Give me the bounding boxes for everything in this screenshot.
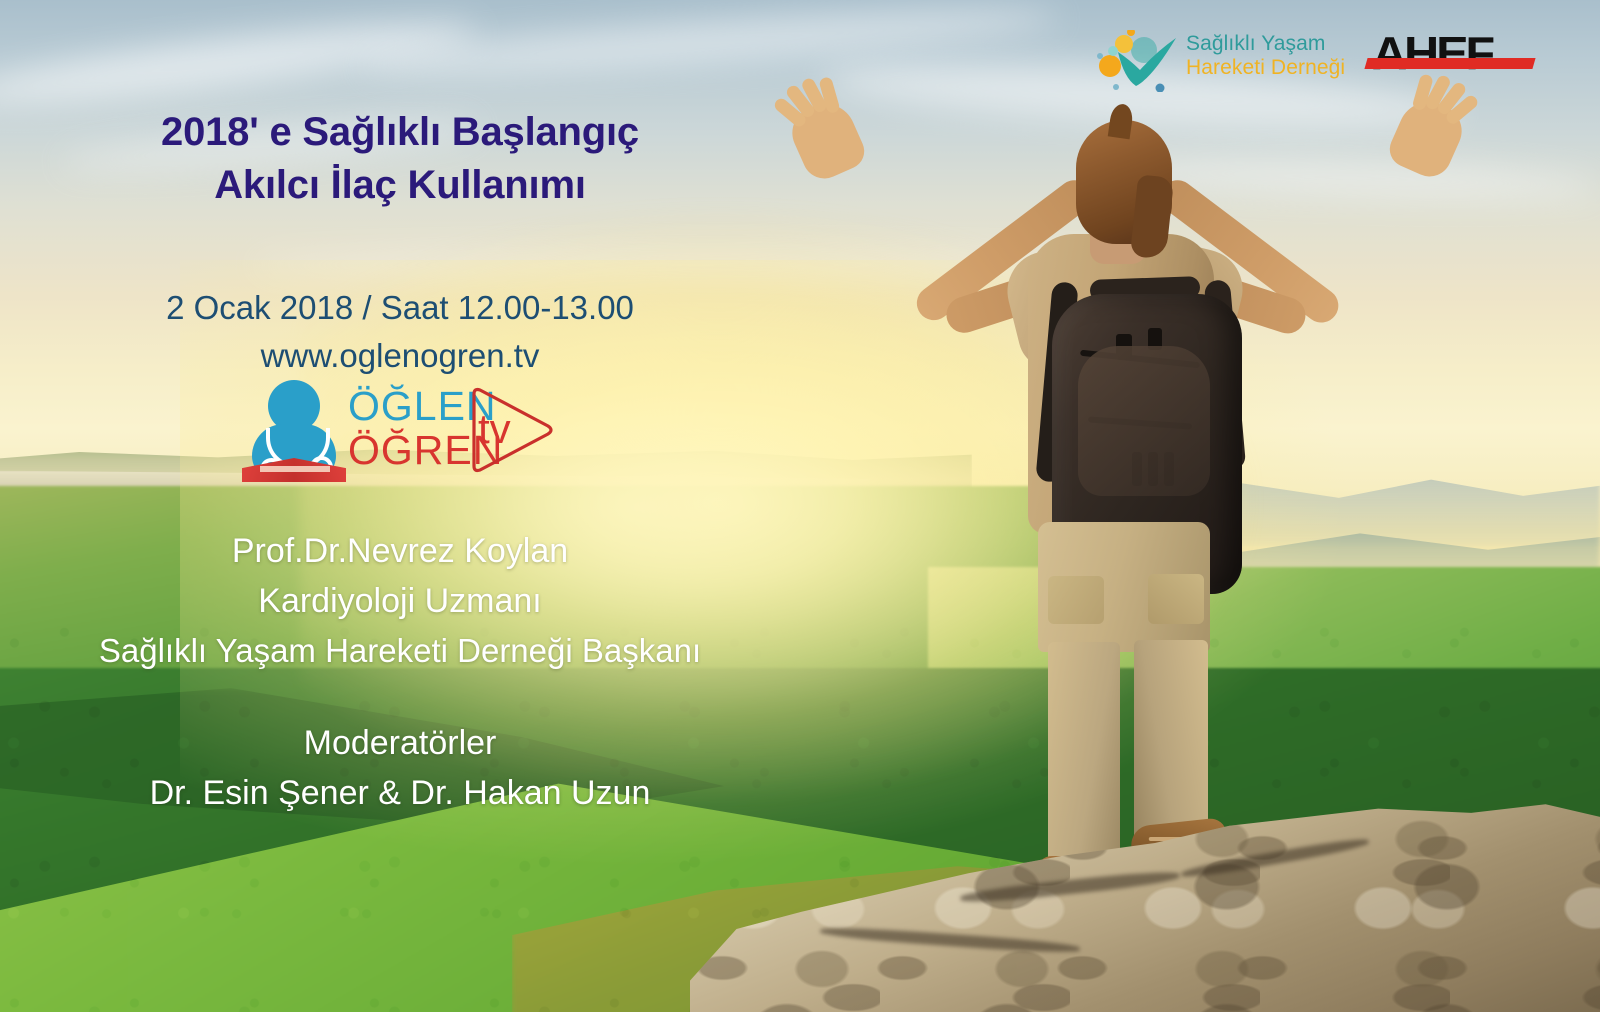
ahef-wordmark: AHEF (1372, 30, 1492, 76)
cargo-pocket-left (1048, 576, 1104, 624)
tv-label: tv (478, 408, 511, 450)
right-hand (1384, 93, 1470, 184)
sponsor-logo-line-2: Hareketi Derneği (1186, 56, 1345, 80)
poster-title: 2018' e Sağlıklı Başlangıç Akılcı İlaç K… (0, 106, 800, 212)
saglikli-yasam-logo[interactable]: Sağlıklı Yaşam Hareketi Derneği (1090, 22, 1360, 94)
moderators-heading: Moderatörler (0, 718, 800, 768)
cargo-pocket-right (1148, 574, 1204, 624)
hair-tuft (1108, 103, 1135, 140)
moderators-block: Moderatörler Dr. Esin Şener & Dr. Hakan … (0, 718, 800, 819)
event-datetime: 2 Ocak 2018 / Saat 12.00-13.00 (166, 289, 634, 326)
speaker-name: Prof.Dr.Nevrez Koylan (0, 526, 800, 576)
speaker-role: Sağlıklı Yaşam Hareketi Derneği Başkanı (0, 627, 800, 676)
ahef-logo[interactable]: AHEF (1372, 30, 1528, 88)
backpack-front-panel (1078, 346, 1210, 496)
event-datetime-block: 2 Ocak 2018 / Saat 12.00-13.00 www.oglen… (0, 284, 800, 380)
title-line-2: Akılcı İlaç Kullanımı (0, 159, 800, 212)
moderators-names: Dr. Esin Şener & Dr. Hakan Uzun (0, 768, 800, 818)
doctor-with-stethoscope-and-book-icon (248, 380, 340, 484)
event-url[interactable]: www.oglenogren.tv (0, 332, 800, 380)
tv-play-badge: tv (464, 384, 560, 480)
left-leg (1048, 642, 1120, 876)
poster-canvas: 2018' e Sağlıklı Başlangıç Akılcı İlaç K… (0, 0, 1600, 1012)
sponsor-logo-line-1: Sağlıklı Yaşam (1186, 32, 1326, 56)
teal-checkmark-swoosh-icon (1090, 30, 1182, 92)
speaker-specialty: Kardiyoloji Uzmanı (0, 576, 800, 626)
title-line-1: 2018' e Sağlıklı Başlangıç (161, 110, 639, 154)
ahef-red-stripe (1364, 58, 1535, 69)
oglen-ogren-tv-logo[interactable]: ÖĞLEN ÖĞREN tv (248, 378, 560, 486)
speaker-block: Prof.Dr.Nevrez Koylan Kardiyoloji Uzmanı… (0, 526, 800, 675)
